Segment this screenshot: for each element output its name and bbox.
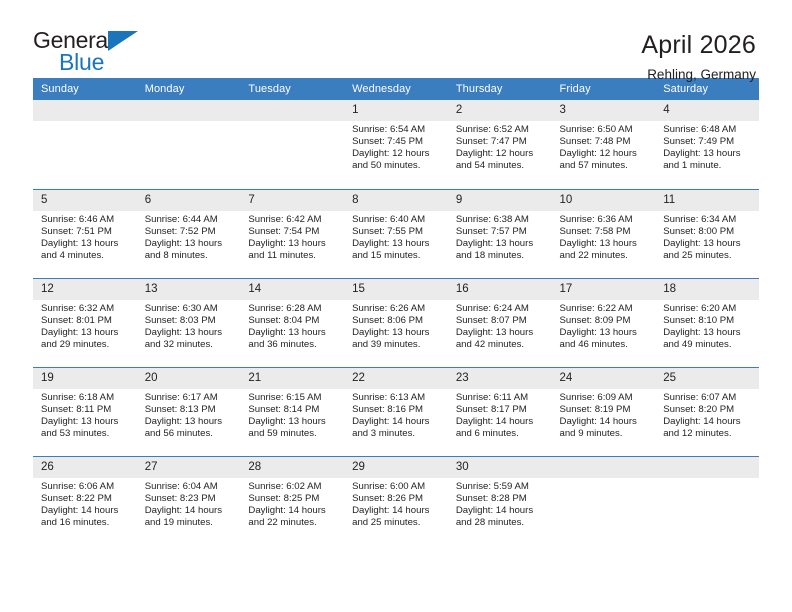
daylight-text: Daylight: 13 hours	[663, 238, 753, 250]
calendar-day-cell[interactable]: 5Sunrise: 6:46 AMSunset: 7:51 PMDaylight…	[33, 189, 137, 278]
sun-info: Sunrise: 6:11 AMSunset: 8:17 PMDaylight:…	[448, 389, 552, 440]
sunrise-text: Sunrise: 6:18 AM	[41, 392, 131, 404]
sun-info: Sunrise: 6:07 AMSunset: 8:20 PMDaylight:…	[655, 389, 759, 440]
daylight-text: Daylight: 13 hours	[145, 416, 235, 428]
calendar-day-cell[interactable]: 27Sunrise: 6:04 AMSunset: 8:23 PMDayligh…	[137, 456, 241, 545]
sunrise-text: Sunrise: 6:44 AM	[145, 214, 235, 226]
sunrise-text: Sunrise: 6:40 AM	[352, 214, 442, 226]
daylight-text: Daylight: 14 hours	[145, 505, 235, 517]
sunrise-text: Sunrise: 5:59 AM	[456, 481, 546, 493]
daylight-text: Daylight: 13 hours	[145, 238, 235, 250]
sunrise-text: Sunrise: 6:28 AM	[248, 303, 338, 315]
sun-info: Sunrise: 6:34 AMSunset: 8:00 PMDaylight:…	[655, 211, 759, 262]
calendar-body: 1Sunrise: 6:54 AMSunset: 7:45 PMDaylight…	[33, 100, 759, 545]
weekday-header-sunday: Sunday	[33, 78, 137, 100]
daylight-text: Daylight: 13 hours	[41, 416, 131, 428]
sunrise-text: Sunrise: 6:38 AM	[456, 214, 546, 226]
calendar-day-cell[interactable]: 23Sunrise: 6:11 AMSunset: 8:17 PMDayligh…	[448, 367, 552, 456]
daylight-text: Daylight: 13 hours	[352, 238, 442, 250]
daylight-text: Daylight: 14 hours	[248, 505, 338, 517]
weekday-header-wednesday: Wednesday	[344, 78, 448, 100]
calendar-cell-empty	[33, 100, 137, 189]
day-number: 22	[344, 368, 448, 389]
sunrise-text: Sunrise: 6:30 AM	[145, 303, 235, 315]
calendar-day-cell[interactable]: 8Sunrise: 6:40 AMSunset: 7:55 PMDaylight…	[344, 189, 448, 278]
daylight-text: Daylight: 13 hours	[248, 327, 338, 339]
day-number: 24	[552, 368, 656, 389]
day-number: 1	[344, 100, 448, 121]
sunset-text: Sunset: 8:16 PM	[352, 404, 442, 416]
sun-info: Sunrise: 6:00 AMSunset: 8:26 PMDaylight:…	[344, 478, 448, 529]
calendar-day-cell[interactable]: 26Sunrise: 6:06 AMSunset: 8:22 PMDayligh…	[33, 456, 137, 545]
calendar-cell-empty	[655, 456, 759, 545]
sunset-text: Sunset: 7:55 PM	[352, 226, 442, 238]
calendar-day-cell[interactable]: 6Sunrise: 6:44 AMSunset: 7:52 PMDaylight…	[137, 189, 241, 278]
daylight-text-cont: and 16 minutes.	[41, 517, 131, 529]
sunrise-text: Sunrise: 6:06 AM	[41, 481, 131, 493]
daylight-text-cont: and 28 minutes.	[456, 517, 546, 529]
sunset-text: Sunset: 7:54 PM	[248, 226, 338, 238]
weekday-header-monday: Monday	[137, 78, 241, 100]
daylight-text-cont: and 4 minutes.	[41, 250, 131, 262]
day-number	[33, 100, 137, 121]
daylight-text: Daylight: 14 hours	[456, 505, 546, 517]
sunrise-text: Sunrise: 6:42 AM	[248, 214, 338, 226]
calendar-day-cell[interactable]: 2Sunrise: 6:52 AMSunset: 7:47 PMDaylight…	[448, 100, 552, 189]
calendar-day-cell[interactable]: 15Sunrise: 6:26 AMSunset: 8:06 PMDayligh…	[344, 278, 448, 367]
sunset-text: Sunset: 7:45 PM	[352, 136, 442, 148]
sunset-text: Sunset: 8:17 PM	[456, 404, 546, 416]
daylight-text-cont: and 19 minutes.	[145, 517, 235, 529]
sunset-text: Sunset: 8:20 PM	[663, 404, 753, 416]
day-number: 20	[137, 368, 241, 389]
sun-info: Sunrise: 6:30 AMSunset: 8:03 PMDaylight:…	[137, 300, 241, 351]
calendar-day-cell[interactable]: 28Sunrise: 6:02 AMSunset: 8:25 PMDayligh…	[240, 456, 344, 545]
day-number: 17	[552, 279, 656, 300]
sunset-text: Sunset: 8:00 PM	[663, 226, 753, 238]
sunset-text: Sunset: 7:58 PM	[560, 226, 650, 238]
day-number: 25	[655, 368, 759, 389]
daylight-text: Daylight: 13 hours	[663, 327, 753, 339]
sunset-text: Sunset: 8:09 PM	[560, 315, 650, 327]
day-number: 27	[137, 457, 241, 478]
calendar-day-cell[interactable]: 18Sunrise: 6:20 AMSunset: 8:10 PMDayligh…	[655, 278, 759, 367]
daylight-text-cont: and 39 minutes.	[352, 339, 442, 351]
calendar-day-cell[interactable]: 19Sunrise: 6:18 AMSunset: 8:11 PMDayligh…	[33, 367, 137, 456]
sunrise-text: Sunrise: 6:52 AM	[456, 124, 546, 136]
calendar-week-row: 5Sunrise: 6:46 AMSunset: 7:51 PMDaylight…	[33, 189, 759, 278]
logo-text-blue: Blue	[59, 51, 153, 73]
sunrise-text: Sunrise: 6:46 AM	[41, 214, 131, 226]
day-number: 14	[240, 279, 344, 300]
sunset-text: Sunset: 8:13 PM	[145, 404, 235, 416]
sun-info: Sunrise: 6:04 AMSunset: 8:23 PMDaylight:…	[137, 478, 241, 529]
day-number: 3	[552, 100, 656, 121]
daylight-text: Daylight: 14 hours	[352, 416, 442, 428]
sun-info: Sunrise: 6:36 AMSunset: 7:58 PMDaylight:…	[552, 211, 656, 262]
sun-info: Sunrise: 6:22 AMSunset: 8:09 PMDaylight:…	[552, 300, 656, 351]
sunset-text: Sunset: 8:23 PM	[145, 493, 235, 505]
calendar-cell-empty	[240, 100, 344, 189]
day-number: 13	[137, 279, 241, 300]
sun-info: Sunrise: 6:42 AMSunset: 7:54 PMDaylight:…	[240, 211, 344, 262]
daylight-text-cont: and 22 minutes.	[560, 250, 650, 262]
day-number	[240, 100, 344, 121]
sun-info: Sunrise: 6:15 AMSunset: 8:14 PMDaylight:…	[240, 389, 344, 440]
sunrise-text: Sunrise: 6:17 AM	[145, 392, 235, 404]
daylight-text: Daylight: 13 hours	[352, 327, 442, 339]
day-number: 29	[344, 457, 448, 478]
daylight-text: Daylight: 12 hours	[352, 148, 442, 160]
daylight-text-cont: and 32 minutes.	[145, 339, 235, 351]
sun-info: Sunrise: 6:48 AMSunset: 7:49 PMDaylight:…	[655, 121, 759, 172]
calendar-day-cell[interactable]: 3Sunrise: 6:50 AMSunset: 7:48 PMDaylight…	[552, 100, 656, 189]
daylight-text-cont: and 42 minutes.	[456, 339, 546, 351]
sunset-text: Sunset: 8:10 PM	[663, 315, 753, 327]
calendar-day-cell[interactable]: 12Sunrise: 6:32 AMSunset: 8:01 PMDayligh…	[33, 278, 137, 367]
calendar-day-cell[interactable]: 20Sunrise: 6:17 AMSunset: 8:13 PMDayligh…	[137, 367, 241, 456]
sunrise-text: Sunrise: 6:04 AM	[145, 481, 235, 493]
day-number: 19	[33, 368, 137, 389]
sunset-text: Sunset: 8:06 PM	[352, 315, 442, 327]
daylight-text: Daylight: 12 hours	[560, 148, 650, 160]
calendar-day-cell[interactable]: 9Sunrise: 6:38 AMSunset: 7:57 PMDaylight…	[448, 189, 552, 278]
sunrise-text: Sunrise: 6:07 AM	[663, 392, 753, 404]
calendar-week-row: 19Sunrise: 6:18 AMSunset: 8:11 PMDayligh…	[33, 367, 759, 456]
sunrise-text: Sunrise: 6:50 AM	[560, 124, 650, 136]
calendar-week-row: 26Sunrise: 6:06 AMSunset: 8:22 PMDayligh…	[33, 456, 759, 545]
daylight-text: Daylight: 13 hours	[248, 238, 338, 250]
day-number: 11	[655, 190, 759, 211]
daylight-text: Daylight: 13 hours	[248, 416, 338, 428]
sunset-text: Sunset: 8:22 PM	[41, 493, 131, 505]
calendar-day-cell[interactable]: 17Sunrise: 6:22 AMSunset: 8:09 PMDayligh…	[552, 278, 656, 367]
title-block: April 2026 Rehling, Germany	[641, 28, 756, 85]
sun-info: Sunrise: 6:52 AMSunset: 7:47 PMDaylight:…	[448, 121, 552, 172]
daylight-text-cont: and 11 minutes.	[248, 250, 338, 262]
daylight-text: Daylight: 13 hours	[41, 327, 131, 339]
daylight-text-cont: and 3 minutes.	[352, 428, 442, 440]
day-number: 9	[448, 190, 552, 211]
sunrise-text: Sunrise: 6:00 AM	[352, 481, 442, 493]
weekday-header-friday: Friday	[552, 78, 656, 100]
sunrise-text: Sunrise: 6:02 AM	[248, 481, 338, 493]
daylight-text: Daylight: 14 hours	[663, 416, 753, 428]
day-number: 30	[448, 457, 552, 478]
daylight-text-cont: and 53 minutes.	[41, 428, 131, 440]
sunset-text: Sunset: 8:03 PM	[145, 315, 235, 327]
sunset-text: Sunset: 8:26 PM	[352, 493, 442, 505]
day-number: 7	[240, 190, 344, 211]
weekday-header-tuesday: Tuesday	[240, 78, 344, 100]
daylight-text: Daylight: 13 hours	[663, 148, 753, 160]
day-number	[552, 457, 656, 478]
sun-info: Sunrise: 6:50 AMSunset: 7:48 PMDaylight:…	[552, 121, 656, 172]
day-number: 26	[33, 457, 137, 478]
day-number: 12	[33, 279, 137, 300]
sun-info: Sunrise: 5:59 AMSunset: 8:28 PMDaylight:…	[448, 478, 552, 529]
sunset-text: Sunset: 8:28 PM	[456, 493, 546, 505]
day-number: 18	[655, 279, 759, 300]
day-number: 23	[448, 368, 552, 389]
general-blue-logo[interactable]: General Blue	[33, 28, 153, 76]
sun-info: Sunrise: 6:06 AMSunset: 8:22 PMDaylight:…	[33, 478, 137, 529]
sun-info: Sunrise: 6:20 AMSunset: 8:10 PMDaylight:…	[655, 300, 759, 351]
calendar-day-cell[interactable]: 25Sunrise: 6:07 AMSunset: 8:20 PMDayligh…	[655, 367, 759, 456]
calendar-day-cell[interactable]: 22Sunrise: 6:13 AMSunset: 8:16 PMDayligh…	[344, 367, 448, 456]
daylight-text-cont: and 59 minutes.	[248, 428, 338, 440]
sun-info: Sunrise: 6:13 AMSunset: 8:16 PMDaylight:…	[344, 389, 448, 440]
sunrise-text: Sunrise: 6:13 AM	[352, 392, 442, 404]
sunrise-text: Sunrise: 6:34 AM	[663, 214, 753, 226]
daylight-text-cont: and 57 minutes.	[560, 160, 650, 172]
calendar-week-row: 1Sunrise: 6:54 AMSunset: 7:45 PMDaylight…	[33, 100, 759, 189]
sunrise-text: Sunrise: 6:22 AM	[560, 303, 650, 315]
weekday-header-thursday: Thursday	[448, 78, 552, 100]
sun-info: Sunrise: 6:02 AMSunset: 8:25 PMDaylight:…	[240, 478, 344, 529]
daylight-text-cont: and 15 minutes.	[352, 250, 442, 262]
daylight-text-cont: and 50 minutes.	[352, 160, 442, 172]
daylight-text-cont: and 54 minutes.	[456, 160, 546, 172]
triangle-icon	[108, 31, 138, 51]
calendar-day-cell[interactable]: 11Sunrise: 6:34 AMSunset: 8:00 PMDayligh…	[655, 189, 759, 278]
daylight-text-cont: and 22 minutes.	[248, 517, 338, 529]
calendar-cell-empty	[137, 100, 241, 189]
calendar-page: General Blue April 2026 Rehling, Germany…	[0, 0, 792, 612]
calendar-grid: Sunday Monday Tuesday Wednesday Thursday…	[33, 78, 759, 545]
daylight-text-cont: and 12 minutes.	[663, 428, 753, 440]
sun-info: Sunrise: 6:09 AMSunset: 8:19 PMDaylight:…	[552, 389, 656, 440]
sunset-text: Sunset: 7:47 PM	[456, 136, 546, 148]
page-title: April 2026	[641, 30, 756, 60]
calendar-day-cell[interactable]: 1Sunrise: 6:54 AMSunset: 7:45 PMDaylight…	[344, 100, 448, 189]
daylight-text-cont: and 8 minutes.	[145, 250, 235, 262]
daylight-text: Daylight: 13 hours	[41, 238, 131, 250]
calendar-day-cell[interactable]: 14Sunrise: 6:28 AMSunset: 8:04 PMDayligh…	[240, 278, 344, 367]
calendar-day-cell[interactable]: 13Sunrise: 6:30 AMSunset: 8:03 PMDayligh…	[137, 278, 241, 367]
sun-info: Sunrise: 6:40 AMSunset: 7:55 PMDaylight:…	[344, 211, 448, 262]
day-number: 16	[448, 279, 552, 300]
calendar-cell-empty	[552, 456, 656, 545]
calendar-day-cell[interactable]: 29Sunrise: 6:00 AMSunset: 8:26 PMDayligh…	[344, 456, 448, 545]
sunset-text: Sunset: 8:25 PM	[248, 493, 338, 505]
day-number: 15	[344, 279, 448, 300]
day-number: 28	[240, 457, 344, 478]
page-header: General Blue April 2026 Rehling, Germany	[0, 0, 792, 78]
sunrise-text: Sunrise: 6:26 AM	[352, 303, 442, 315]
sunset-text: Sunset: 7:52 PM	[145, 226, 235, 238]
day-number: 21	[240, 368, 344, 389]
sun-info: Sunrise: 6:18 AMSunset: 8:11 PMDaylight:…	[33, 389, 137, 440]
sun-info: Sunrise: 6:26 AMSunset: 8:06 PMDaylight:…	[344, 300, 448, 351]
sun-info: Sunrise: 6:24 AMSunset: 8:07 PMDaylight:…	[448, 300, 552, 351]
calendar-day-cell[interactable]: 7Sunrise: 6:42 AMSunset: 7:54 PMDaylight…	[240, 189, 344, 278]
calendar-day-cell[interactable]: 16Sunrise: 6:24 AMSunset: 8:07 PMDayligh…	[448, 278, 552, 367]
day-number: 10	[552, 190, 656, 211]
sunset-text: Sunset: 8:11 PM	[41, 404, 131, 416]
sun-info: Sunrise: 6:44 AMSunset: 7:52 PMDaylight:…	[137, 211, 241, 262]
daylight-text-cont: and 9 minutes.	[560, 428, 650, 440]
sun-info: Sunrise: 6:32 AMSunset: 8:01 PMDaylight:…	[33, 300, 137, 351]
daylight-text: Daylight: 13 hours	[145, 327, 235, 339]
daylight-text-cont: and 25 minutes.	[663, 250, 753, 262]
sunrise-text: Sunrise: 6:15 AM	[248, 392, 338, 404]
daylight-text: Daylight: 14 hours	[41, 505, 131, 517]
calendar-day-cell[interactable]: 4Sunrise: 6:48 AMSunset: 7:49 PMDaylight…	[655, 100, 759, 189]
day-number: 6	[137, 190, 241, 211]
calendar-day-cell[interactable]: 24Sunrise: 6:09 AMSunset: 8:19 PMDayligh…	[552, 367, 656, 456]
daylight-text: Daylight: 14 hours	[560, 416, 650, 428]
sun-info: Sunrise: 6:46 AMSunset: 7:51 PMDaylight:…	[33, 211, 137, 262]
daylight-text-cont: and 1 minute.	[663, 160, 753, 172]
daylight-text: Daylight: 13 hours	[560, 238, 650, 250]
daylight-text: Daylight: 14 hours	[456, 416, 546, 428]
sunrise-text: Sunrise: 6:54 AM	[352, 124, 442, 136]
sunset-text: Sunset: 8:19 PM	[560, 404, 650, 416]
daylight-text-cont: and 49 minutes.	[663, 339, 753, 351]
day-number: 5	[33, 190, 137, 211]
daylight-text-cont: and 6 minutes.	[456, 428, 546, 440]
daylight-text: Daylight: 12 hours	[456, 148, 546, 160]
daylight-text-cont: and 25 minutes.	[352, 517, 442, 529]
sun-info: Sunrise: 6:28 AMSunset: 8:04 PMDaylight:…	[240, 300, 344, 351]
daylight-text: Daylight: 13 hours	[456, 327, 546, 339]
sunrise-text: Sunrise: 6:36 AM	[560, 214, 650, 226]
sunrise-text: Sunrise: 6:20 AM	[663, 303, 753, 315]
sunrise-text: Sunrise: 6:11 AM	[456, 392, 546, 404]
daylight-text-cont: and 29 minutes.	[41, 339, 131, 351]
daylight-text-cont: and 46 minutes.	[560, 339, 650, 351]
daylight-text: Daylight: 13 hours	[456, 238, 546, 250]
sunrise-text: Sunrise: 6:24 AM	[456, 303, 546, 315]
sunset-text: Sunset: 7:48 PM	[560, 136, 650, 148]
calendar-day-cell[interactable]: 21Sunrise: 6:15 AMSunset: 8:14 PMDayligh…	[240, 367, 344, 456]
sunset-text: Sunset: 7:51 PM	[41, 226, 131, 238]
day-number: 2	[448, 100, 552, 121]
sunrise-text: Sunrise: 6:48 AM	[663, 124, 753, 136]
daylight-text-cont: and 18 minutes.	[456, 250, 546, 262]
sunset-text: Sunset: 8:04 PM	[248, 315, 338, 327]
day-number: 4	[655, 100, 759, 121]
sunset-text: Sunset: 7:57 PM	[456, 226, 546, 238]
day-number	[137, 100, 241, 121]
sun-info: Sunrise: 6:54 AMSunset: 7:45 PMDaylight:…	[344, 121, 448, 172]
day-number: 8	[344, 190, 448, 211]
sunrise-text: Sunrise: 6:09 AM	[560, 392, 650, 404]
daylight-text: Daylight: 14 hours	[352, 505, 442, 517]
daylight-text-cont: and 56 minutes.	[145, 428, 235, 440]
sunset-text: Sunset: 8:14 PM	[248, 404, 338, 416]
calendar-day-cell[interactable]: 30Sunrise: 5:59 AMSunset: 8:28 PMDayligh…	[448, 456, 552, 545]
daylight-text: Daylight: 13 hours	[560, 327, 650, 339]
sunset-text: Sunset: 8:07 PM	[456, 315, 546, 327]
calendar-week-row: 12Sunrise: 6:32 AMSunset: 8:01 PMDayligh…	[33, 278, 759, 367]
day-number	[655, 457, 759, 478]
calendar-day-cell[interactable]: 10Sunrise: 6:36 AMSunset: 7:58 PMDayligh…	[552, 189, 656, 278]
sun-info: Sunrise: 6:17 AMSunset: 8:13 PMDaylight:…	[137, 389, 241, 440]
sunset-text: Sunset: 8:01 PM	[41, 315, 131, 327]
daylight-text-cont: and 36 minutes.	[248, 339, 338, 351]
page-subtitle: Rehling, Germany	[641, 65, 756, 85]
sun-info: Sunrise: 6:38 AMSunset: 7:57 PMDaylight:…	[448, 211, 552, 262]
sunrise-text: Sunrise: 6:32 AM	[41, 303, 131, 315]
sunset-text: Sunset: 7:49 PM	[663, 136, 753, 148]
